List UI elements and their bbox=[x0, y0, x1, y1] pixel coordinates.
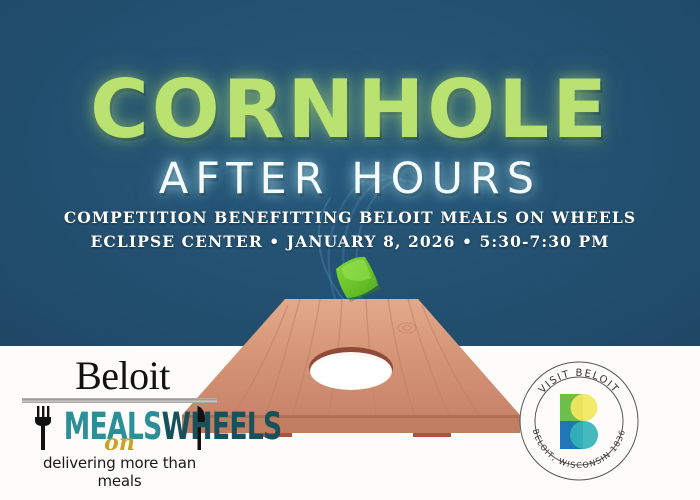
headline-block: CORNHOLE AFTER HOURS bbox=[0, 72, 700, 204]
board-hole bbox=[309, 347, 393, 390]
event-details: COMPETITION BENEFITTING BELOIT MEALS ON … bbox=[0, 206, 700, 254]
logo-tagline: delivering more than meals bbox=[22, 454, 217, 490]
beloit-b-monogram bbox=[560, 394, 598, 449]
event-detail-line-1: COMPETITION BENEFITTING BELOIT MEALS ON … bbox=[0, 206, 700, 230]
bean-bag-icon bbox=[336, 257, 381, 302]
event-detail-line-2: ECLIPSE CENTER • JANUARY 8, 2026 • 5:30-… bbox=[0, 230, 700, 254]
page-subtitle: AFTER HOURS bbox=[0, 154, 700, 204]
logo-city-name: Beloit bbox=[22, 356, 217, 396]
logo-divider-bar bbox=[22, 398, 217, 403]
visit-beloit-badge: VISIT BELOIT BELOIT, WISCONSIN 1836 bbox=[518, 360, 640, 482]
meals-on-wheels-logo: Beloit MEALSWHEELS on delivering more th… bbox=[22, 356, 217, 480]
page-title: CORNHOLE bbox=[0, 72, 700, 148]
logo-word-on: on bbox=[22, 430, 217, 456]
badge-top-text: VISIT BELOIT bbox=[537, 368, 621, 396]
event-poster: CORNHOLE AFTER HOURS COMPETITION BENEFIT… bbox=[0, 0, 700, 500]
